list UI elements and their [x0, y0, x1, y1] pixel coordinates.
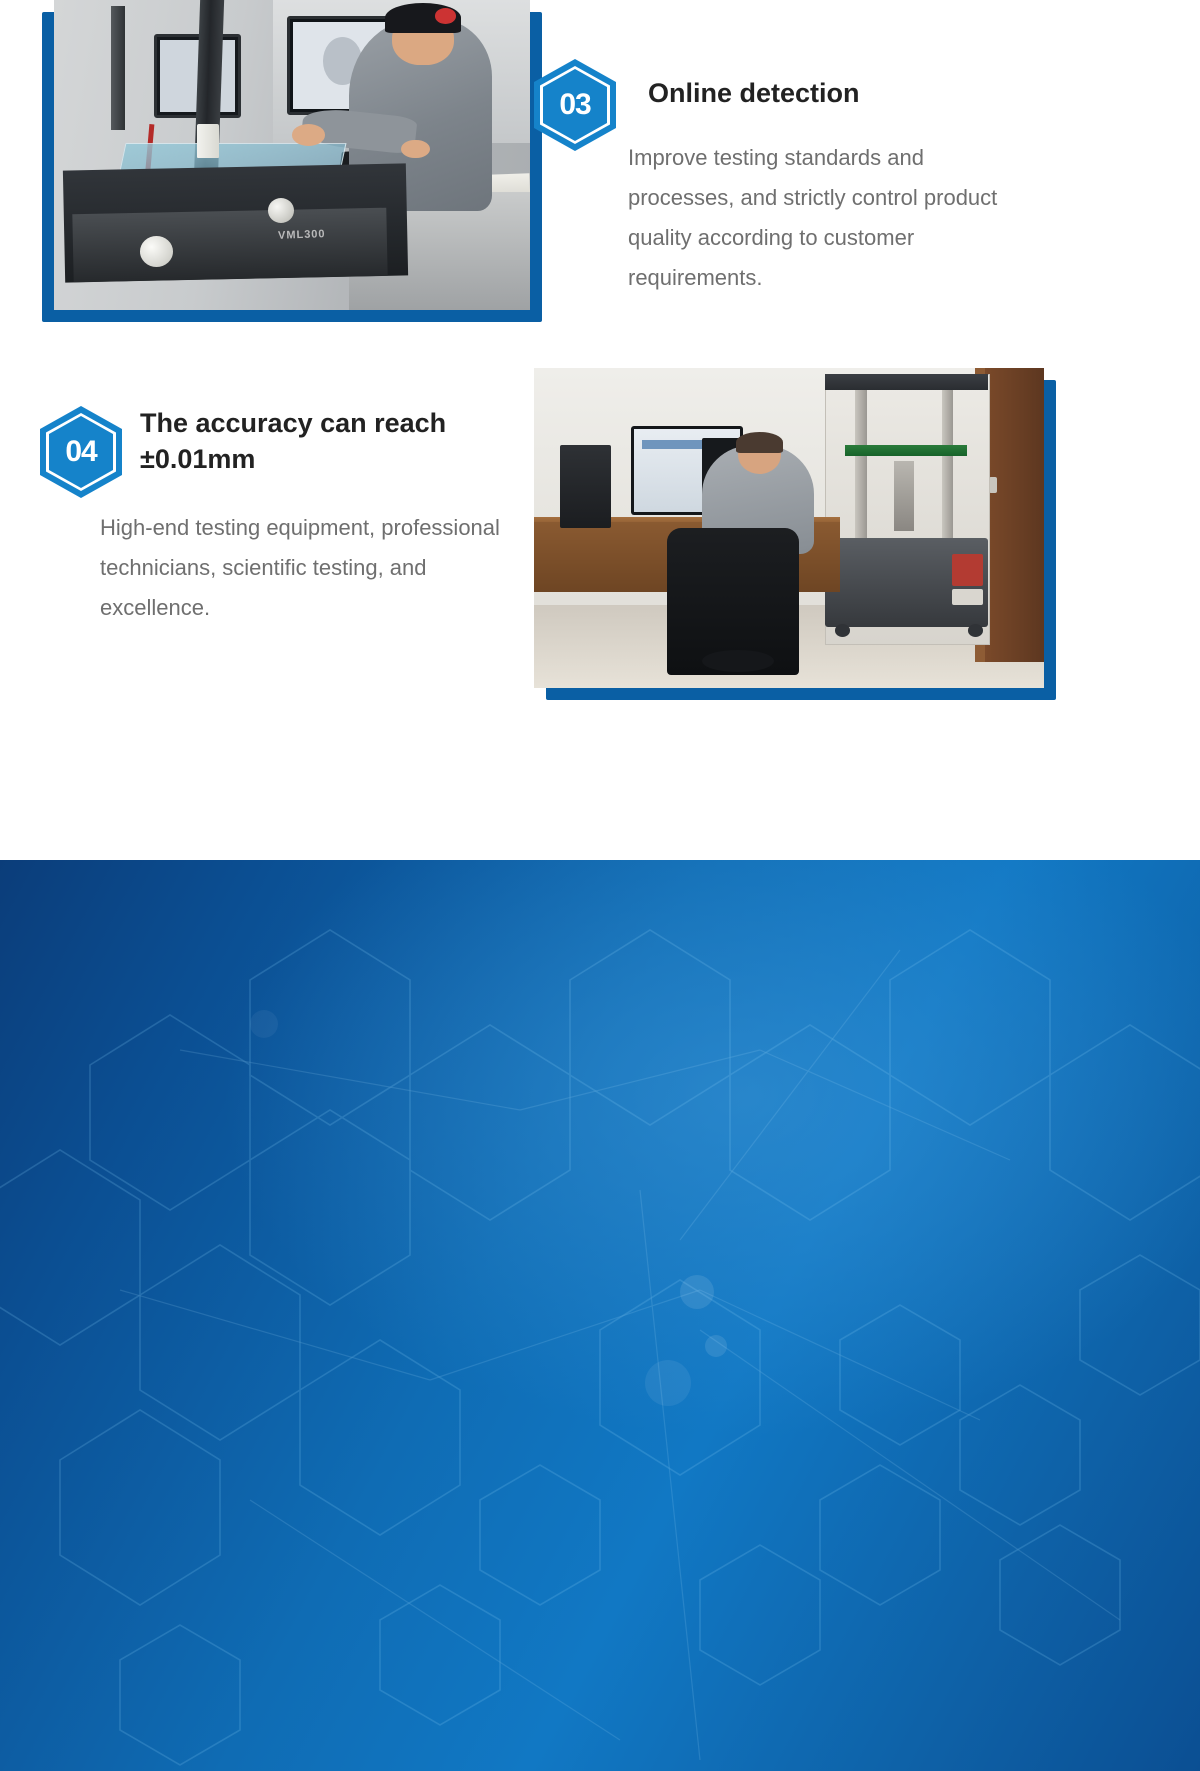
lab-scene-illustration: VML300 [54, 0, 530, 310]
decor-bubble [645, 1360, 691, 1406]
machine-model-label: VML300 [278, 229, 326, 243]
feature-number-04: 04 [40, 406, 122, 498]
hexagon-pattern-icon [0, 860, 1200, 1771]
feature-title-03: Online detection [648, 76, 1048, 112]
online-detection-photo: VML300 [54, 0, 530, 310]
testing-room-illustration [534, 368, 1044, 688]
online-detection-photo-frame: VML300 [42, 12, 542, 322]
decor-bubble [250, 1010, 278, 1038]
feature-badge-03: 03 [534, 59, 616, 151]
feature-title-04: The accuracy can reach ±0.01mm [140, 406, 510, 477]
decor-bubble [705, 1335, 727, 1357]
accuracy-testing-photo [534, 368, 1044, 688]
feature-body-04: High-end testing equipment, professional… [100, 508, 540, 628]
feature-body-03: Improve testing standards and processes,… [628, 138, 1028, 298]
features-section: VML300 03 Online detection Improve testi… [0, 0, 1200, 860]
decor-bubble [680, 1275, 714, 1309]
feature-number-03: 03 [534, 59, 616, 151]
scope-of-services-section: Scope of services 01 CNC processing of e… [0, 860, 1200, 1771]
accuracy-testing-photo-frame [546, 380, 1056, 700]
feature-badge-04: 04 [40, 406, 122, 498]
